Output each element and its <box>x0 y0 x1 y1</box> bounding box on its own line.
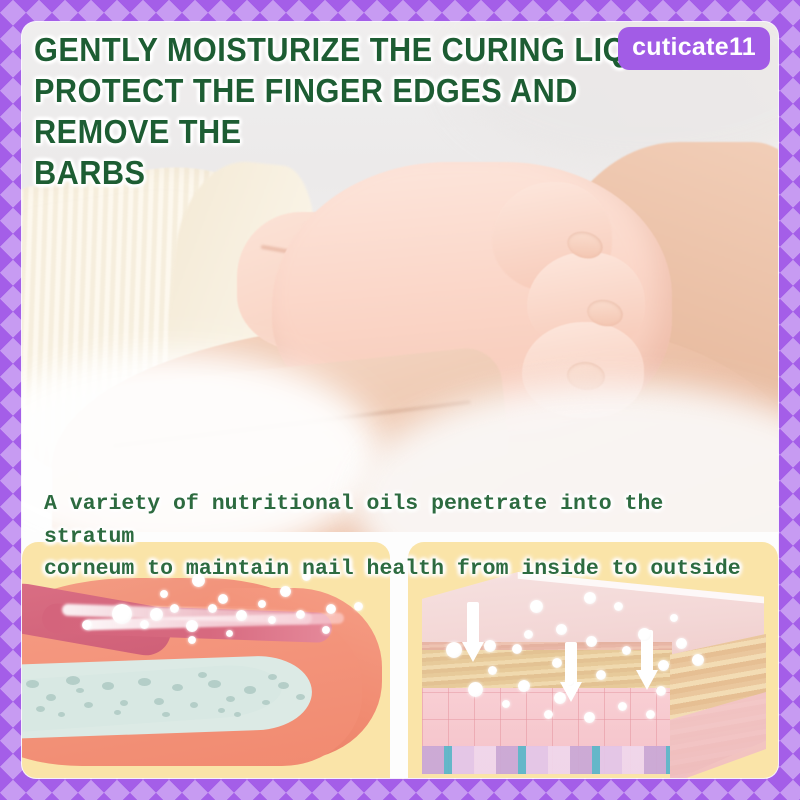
nail-speckle <box>138 678 151 686</box>
oil-droplet <box>658 660 669 671</box>
oil-droplet <box>502 700 510 708</box>
oil-droplet <box>544 710 553 719</box>
stratum-corneum-layer <box>422 650 672 690</box>
oil-droplet <box>218 594 228 604</box>
oil-droplet <box>468 682 483 697</box>
oil-droplet <box>446 642 462 658</box>
oil-droplet <box>646 710 655 719</box>
nail-speckle <box>84 702 93 708</box>
nail-speckle <box>226 696 235 702</box>
nail-speckle <box>36 706 45 712</box>
oil-droplet <box>586 636 597 647</box>
oil-droplet <box>518 680 530 692</box>
oil-droplet <box>354 602 363 611</box>
nail-speckle <box>114 710 121 715</box>
nail-speckle <box>262 700 270 705</box>
nail-speckle <box>244 686 256 694</box>
oil-droplet <box>112 604 132 624</box>
basal-cell-layer <box>422 746 672 774</box>
oil-droplet <box>556 624 567 635</box>
nail-speckle <box>58 712 65 717</box>
oil-droplet <box>614 602 623 611</box>
oil-droplet <box>656 686 666 696</box>
nail-speckle <box>234 712 241 717</box>
nail-speckle <box>26 680 39 688</box>
decorative-purple-diamond-frame: GENTLY MOISTURIZE THE CURING LIQUID, PRO… <box>0 0 800 800</box>
caption-text: A variety of nutritional oils penetrate … <box>44 488 764 586</box>
nail-speckle <box>278 682 289 689</box>
nail-speckle <box>208 680 221 688</box>
oil-droplet <box>226 630 233 637</box>
nail-speckle <box>172 684 183 691</box>
oil-droplet <box>140 620 149 629</box>
oil-droplet <box>554 692 566 704</box>
oil-droplet <box>82 620 92 630</box>
oil-droplet <box>322 626 330 634</box>
nail-speckle <box>66 676 80 685</box>
oil-droplet <box>552 658 562 668</box>
nail-speckle <box>296 694 305 700</box>
oil-droplet <box>596 670 606 680</box>
oil-droplet <box>530 600 543 613</box>
oil-droplet <box>208 604 217 613</box>
nail-speckle <box>190 702 198 708</box>
oil-droplet <box>188 636 196 644</box>
oil-droplet <box>524 630 533 639</box>
oil-droplet <box>186 620 198 632</box>
nail-speckle <box>198 672 207 678</box>
nail-speckle <box>76 688 84 693</box>
oil-droplet <box>170 604 179 613</box>
oil-droplet <box>268 616 276 624</box>
oil-droplet <box>512 644 522 654</box>
oil-droplet <box>150 608 163 621</box>
oil-droplet <box>484 640 496 652</box>
oil-droplet <box>258 600 266 608</box>
oil-droplet <box>488 666 497 675</box>
nail-speckle <box>162 712 170 717</box>
oil-droplet <box>670 614 678 622</box>
oil-droplet <box>638 628 651 641</box>
nail-speckle <box>120 700 128 706</box>
nail-speckle <box>268 674 277 680</box>
oil-droplet <box>160 590 168 598</box>
shop-watermark-badge: cuticate11 <box>618 27 770 70</box>
oil-droplet <box>584 592 596 604</box>
oil-droplet <box>326 604 336 614</box>
oil-droplet <box>692 654 704 666</box>
oil-droplet <box>622 646 631 655</box>
oil-droplet <box>676 638 687 649</box>
infographic-card: GENTLY MOISTURIZE THE CURING LIQUID, PRO… <box>22 22 778 778</box>
oil-droplet <box>236 610 247 621</box>
nail-speckle <box>46 694 56 701</box>
oil-droplet <box>280 586 291 597</box>
oil-droplet <box>566 678 574 686</box>
nail-speckle <box>102 682 114 690</box>
nail-speckle <box>154 698 164 705</box>
nail-speckle <box>218 708 225 713</box>
oil-droplet <box>296 610 305 619</box>
oil-droplet <box>584 712 595 723</box>
oil-droplet <box>618 702 627 711</box>
